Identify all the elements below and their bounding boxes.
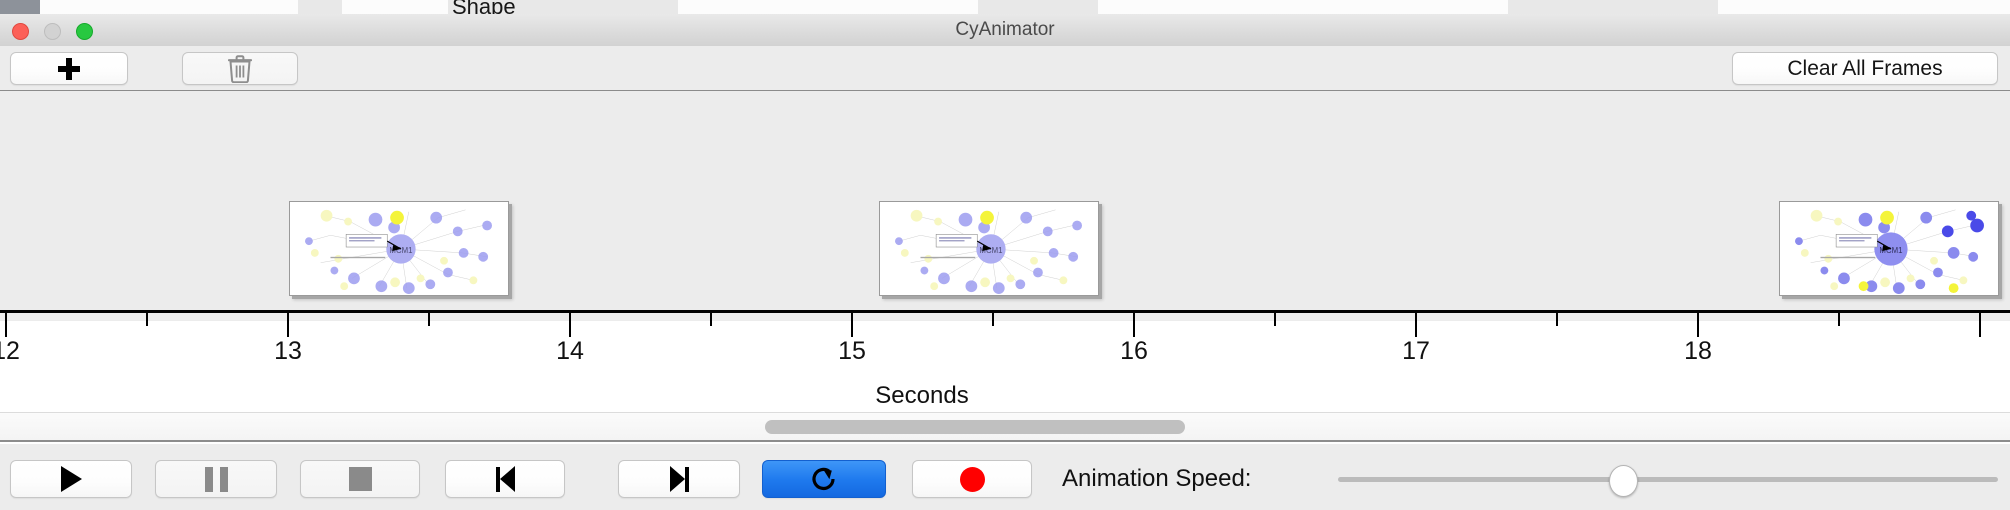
axis-tick xyxy=(851,313,853,337)
slider-thumb[interactable] xyxy=(1609,465,1638,497)
axis-tick xyxy=(1838,313,1840,326)
axis-tick-label: 15 xyxy=(838,337,866,366)
axis-tick xyxy=(1979,313,1981,337)
axis-tick-label: 17 xyxy=(1402,337,1430,366)
title-bar: CyAnimator xyxy=(0,14,2010,47)
background-window-label: Shape xyxy=(452,0,516,14)
network-thumbnail: MCM1 xyxy=(1780,202,1998,295)
window-title: CyAnimator xyxy=(0,14,2010,46)
scrollbar-thumb[interactable] xyxy=(765,420,1185,434)
play-button[interactable] xyxy=(10,460,132,498)
stop-icon xyxy=(349,467,372,491)
animation-speed-label: Animation Speed: xyxy=(1062,460,1251,498)
pause-button[interactable] xyxy=(155,460,277,498)
axis-tick-label: 13 xyxy=(274,337,302,366)
axis-tick-label: 12 xyxy=(0,337,20,366)
axis-title: Seconds xyxy=(0,382,2010,410)
axis-line xyxy=(0,310,2010,313)
timeline-frames-track: MCM1 xyxy=(0,91,2010,321)
loop-icon xyxy=(810,465,838,493)
axis-tick-label: 14 xyxy=(556,337,584,366)
axis-tick xyxy=(428,313,430,326)
loop-button[interactable] xyxy=(762,460,886,498)
background-window-strip: Shape xyxy=(0,0,2010,14)
timeline-frame-thumbnail[interactable]: MCM1 xyxy=(879,201,1099,296)
axis-tick xyxy=(569,313,571,337)
axis-tick xyxy=(710,313,712,326)
play-icon xyxy=(61,466,82,492)
trash-icon xyxy=(228,55,252,83)
axis-tick xyxy=(1556,313,1558,326)
timeline-scrollbar[interactable] xyxy=(0,412,2010,442)
axis-tick xyxy=(146,313,148,326)
clear-all-frames-button[interactable]: Clear All Frames xyxy=(1732,52,1998,85)
pause-icon xyxy=(205,467,228,492)
stop-button[interactable] xyxy=(300,460,420,498)
network-thumbnail: MCM1 xyxy=(290,202,508,295)
axis-tick xyxy=(992,313,994,326)
record-icon xyxy=(960,467,985,492)
timeline-axis: 12131415161718 xyxy=(0,310,2010,372)
skip-next-button[interactable] xyxy=(618,460,740,498)
axis-tick xyxy=(1697,313,1699,337)
add-frame-button[interactable] xyxy=(10,52,128,85)
record-button[interactable] xyxy=(912,460,1032,498)
timeline-frame-thumbnail[interactable]: MCM1 xyxy=(1779,201,1999,296)
timeline-frame-thumbnail[interactable]: MCM1 xyxy=(289,201,509,296)
timeline-panel[interactable]: MCM1 xyxy=(0,90,2010,321)
skip-previous-icon xyxy=(496,466,515,492)
toolbar xyxy=(0,46,2010,91)
axis-tick-label: 16 xyxy=(1120,337,1148,366)
slider-track xyxy=(1338,477,1998,482)
axis-tick xyxy=(1274,313,1276,326)
animation-speed-slider[interactable] xyxy=(1338,477,1998,482)
network-thumbnail: MCM1 xyxy=(880,202,1098,295)
axis-tick xyxy=(5,313,7,337)
axis-tick-label: 18 xyxy=(1684,337,1712,366)
delete-frame-button[interactable] xyxy=(182,52,298,85)
skip-previous-button[interactable] xyxy=(445,460,565,498)
axis-tick xyxy=(287,313,289,337)
axis-tick xyxy=(1133,313,1135,337)
skip-next-icon xyxy=(670,466,689,492)
cyanimator-window: Shape CyAnimator Clear All Frames xyxy=(0,0,2010,510)
plus-icon xyxy=(58,58,80,80)
axis-tick xyxy=(1415,313,1417,337)
